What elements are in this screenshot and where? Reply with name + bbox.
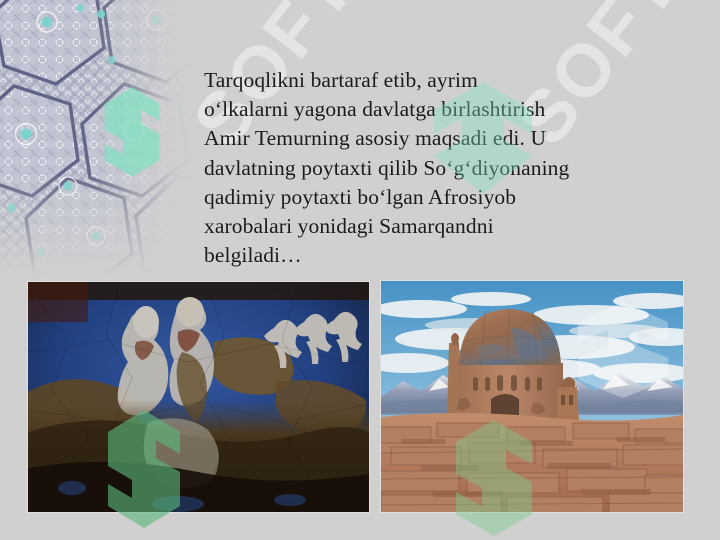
mural-artwork <box>28 282 369 512</box>
mausoleum-photograph <box>381 281 683 512</box>
decorative-tile-pattern <box>0 0 196 276</box>
mausoleum-ruins-image <box>381 281 683 512</box>
islamic-tile-pattern-icon <box>0 0 196 276</box>
slide-canvas: SOFT SOFT Tarqoqlikni bartaraf etib, ayr… <box>0 0 720 540</box>
afrosiyob-mural-image <box>28 282 369 512</box>
slide-body-text: Tarqoqlikni bartaraf etib, ayrim oʻlkala… <box>204 66 716 270</box>
